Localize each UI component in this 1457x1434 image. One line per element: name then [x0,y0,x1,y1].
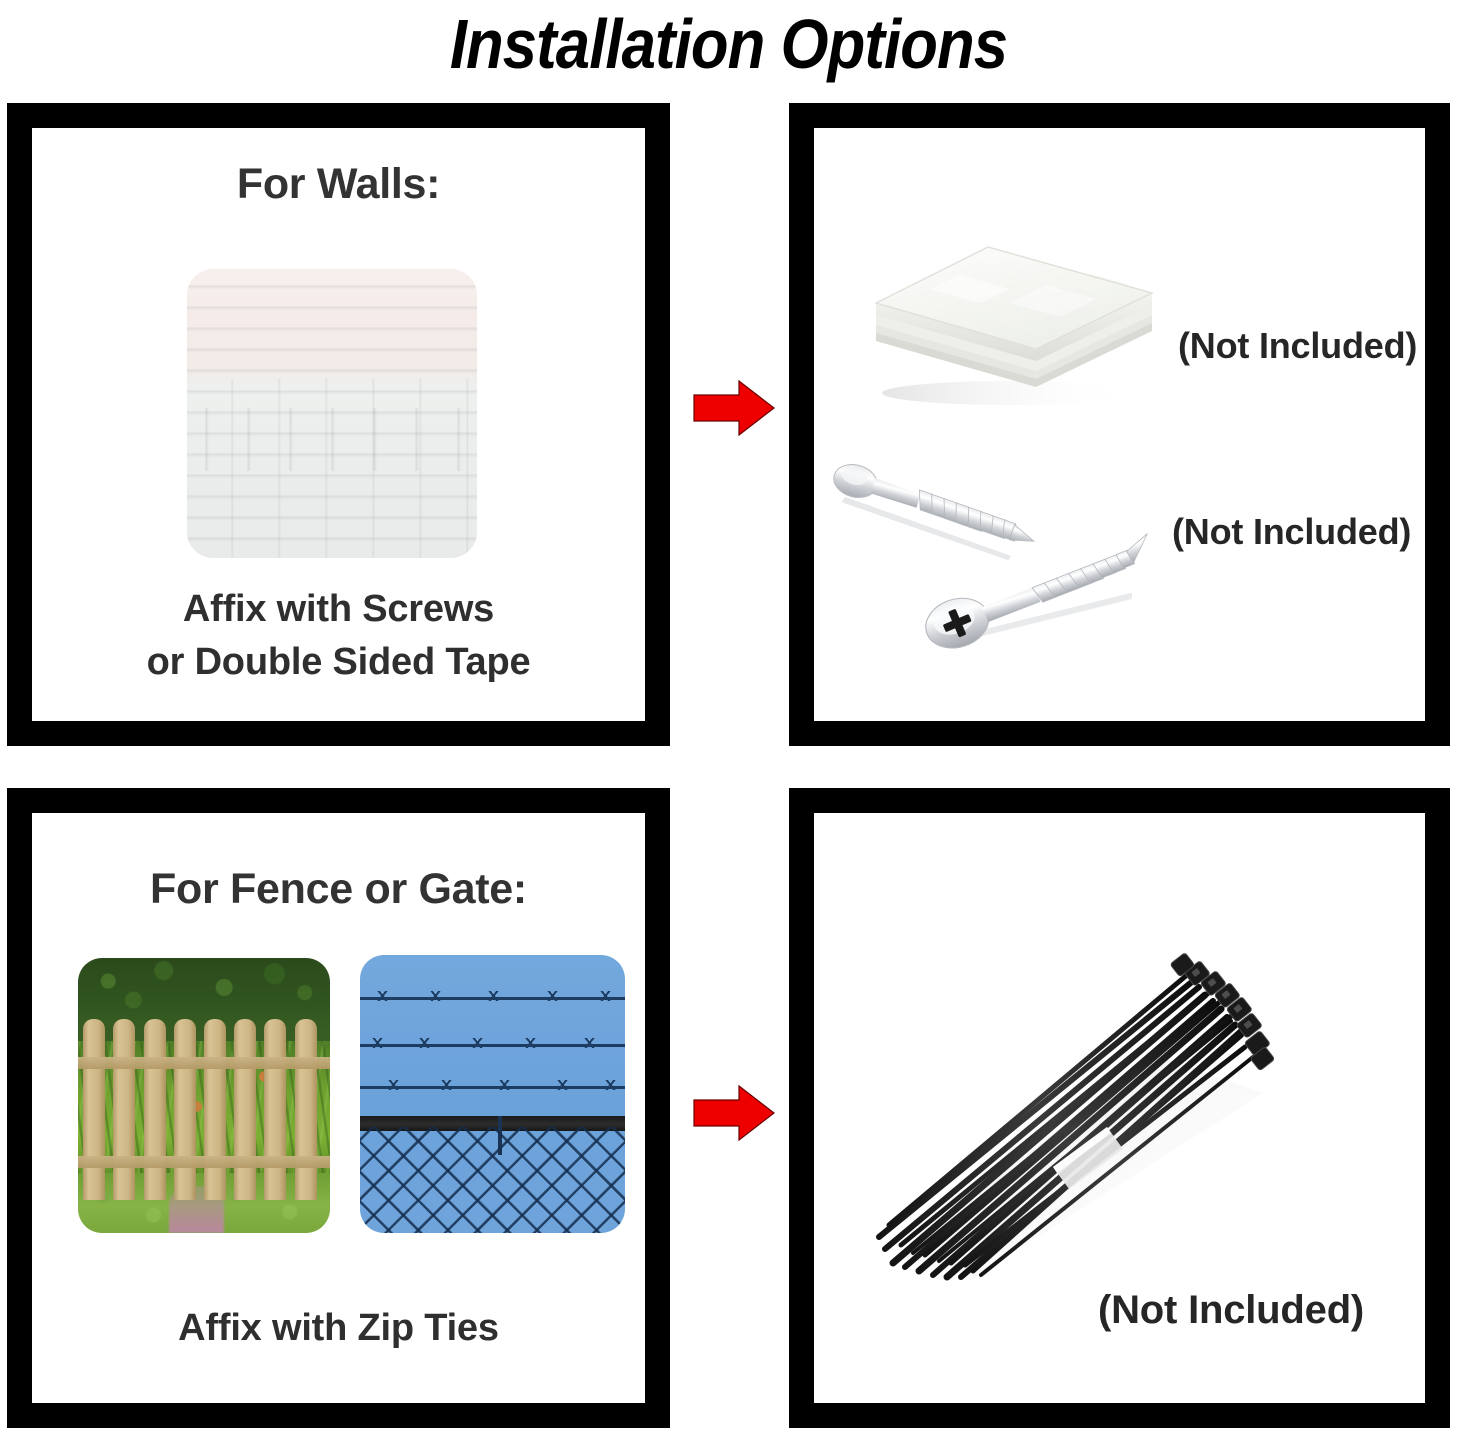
fence-heading: For Fence or Gate: [32,865,645,914]
fence-caption-line-1: Affix with Zip Ties [32,1302,645,1355]
fence-picket [174,1019,196,1201]
page-title: Installation Options [87,2,1369,86]
screws-not-included-label: (Not Included) [1172,511,1411,553]
wire-barb [440,1080,453,1090]
wire-barb [376,991,389,1001]
red-right-arrow-icon [691,379,777,437]
fence-caption: Affix with Zip Ties [32,1302,645,1355]
brick-joints-texture-secondary [187,408,477,472]
panel-wall-hardware [789,103,1450,746]
wire-barb [546,991,559,1001]
walls-caption-line-2: or Double Sided Tape [32,636,645,689]
wire-barb [429,991,442,1001]
chain-link-mesh [360,1127,625,1233]
wire-barb [371,1038,384,1048]
black-zip-ties-bundle-image [855,905,1285,1295]
walls-heading: For Walls: [32,160,645,209]
fence-picket [144,1019,166,1201]
wire-barb [599,991,612,1001]
walls-caption-line-1: Affix with Screws [32,583,645,636]
wire-barb [418,1038,431,1048]
fence-picket [113,1019,135,1201]
ties-not-included-label: (Not Included) [1098,1288,1364,1333]
wire-barb [487,991,500,1001]
walls-caption: Affix with Screws or Double Sided Tape [32,583,645,689]
wire-barb [524,1038,537,1048]
fence-rail [78,1156,330,1168]
fence-picket [234,1019,256,1201]
fence-picket [204,1019,226,1201]
panel-for-walls: For Walls: Affix with Screws or Double S… [7,103,670,746]
wooden-picket-fence-photo [78,958,330,1233]
barbed-wire-chain-link-fence-photo [360,955,625,1233]
barbed-wire-strand [360,1086,625,1089]
double-sided-tape-stack-image [860,215,1172,415]
tape-not-included-label: (Not Included) [1178,325,1417,367]
wire-barb [604,1080,617,1090]
fence-picket [295,1019,317,1201]
white-brick-wall-photo [187,269,477,558]
fence-rail [78,1057,330,1069]
red-right-arrow-icon [691,1084,777,1142]
wire-barb [471,1038,484,1048]
wire-barb [556,1080,569,1090]
fence-picket [83,1019,105,1201]
wire-barb [583,1038,596,1048]
wire-barb [498,1080,511,1090]
wire-barb [387,1080,400,1090]
fence-picket [264,1019,286,1201]
